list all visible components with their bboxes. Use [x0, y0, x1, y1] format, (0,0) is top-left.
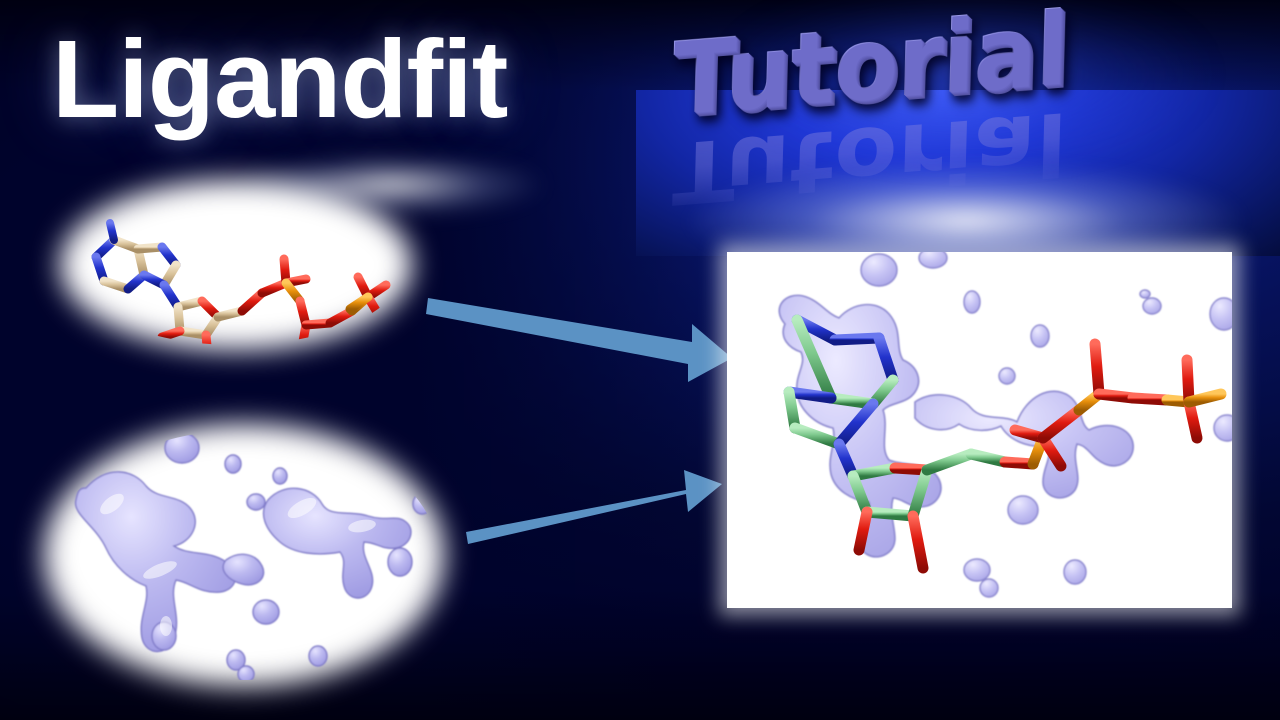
ligand-model-ellipse — [66, 185, 406, 345]
slide-canvas: Tutorial Tutorial Ligandfit — [0, 0, 1280, 720]
electron-density-isosurface — [50, 430, 438, 680]
density-map-ellipse — [50, 430, 438, 680]
arrow-ligand-to-result — [420, 280, 740, 400]
arrow-density-to-result — [440, 450, 740, 560]
ligand-fitted-in-density — [727, 252, 1232, 608]
tutorial-3d-graphic: Tutorial Tutorial — [636, 0, 1280, 256]
page-title: Ligandfit — [52, 22, 507, 138]
atp-stick-model — [66, 185, 406, 345]
fitted-result-panel — [727, 252, 1232, 608]
